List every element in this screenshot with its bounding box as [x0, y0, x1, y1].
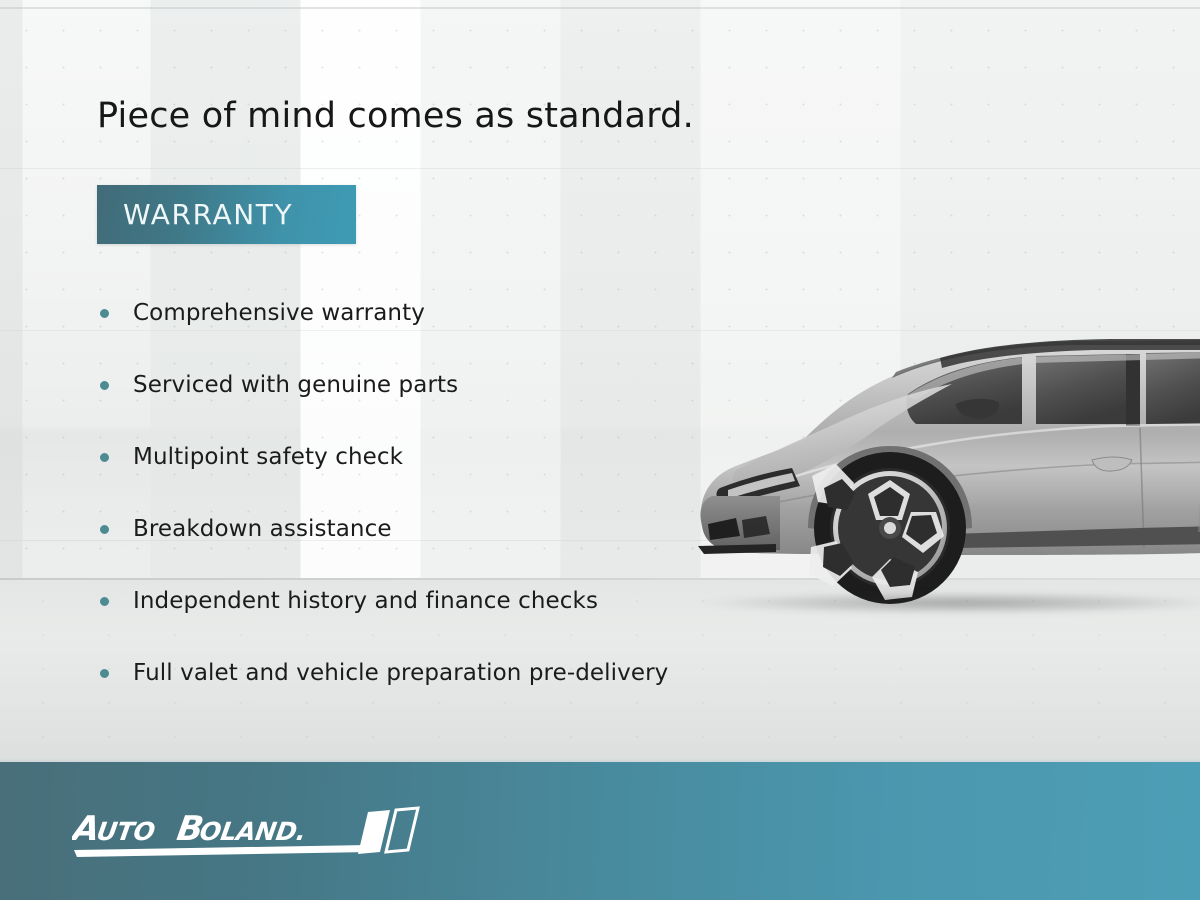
logo-bar-outline	[386, 808, 418, 852]
car-front-window	[1036, 354, 1126, 424]
list-item: Independent history and finance checks	[97, 565, 857, 637]
bullet-dot-icon	[100, 669, 109, 678]
list-item: Full valet and vehicle preparation pre-d…	[97, 637, 857, 709]
svg-text:UTO: UTO	[95, 817, 157, 846]
list-item: Serviced with genuine parts	[97, 349, 857, 421]
bullet-dot-icon	[100, 525, 109, 534]
feature-list: Comprehensive warranty Serviced with gen…	[97, 277, 857, 709]
list-item: Breakdown assistance	[97, 493, 857, 565]
list-item-label: Serviced with genuine parts	[133, 372, 458, 398]
svg-text:OLAND.: OLAND.	[198, 817, 308, 846]
list-item-label: Comprehensive warranty	[133, 300, 425, 326]
list-item-label: Breakdown assistance	[133, 516, 392, 542]
logo-underline	[74, 845, 371, 857]
car-b-pillar	[1126, 354, 1140, 426]
presentation-slide: Piece of mind comes as standard. WARRANT…	[0, 0, 1200, 900]
bullet-dot-icon	[100, 309, 109, 318]
car-rear-window	[1146, 352, 1200, 424]
logo-bar-solid	[358, 810, 390, 854]
list-item: Comprehensive warranty	[97, 277, 857, 349]
list-item-label: Full valet and vehicle preparation pre-d…	[133, 660, 668, 686]
bullet-dot-icon	[100, 453, 109, 462]
auto-boland-logo[interactable]: A UTO B OLAND.	[72, 800, 422, 860]
list-item-label: Multipoint safety check	[133, 444, 403, 470]
warranty-badge-label: WARRANTY	[97, 198, 293, 231]
bullet-dot-icon	[100, 597, 109, 606]
bullet-dot-icon	[100, 381, 109, 390]
list-item: Multipoint safety check	[97, 421, 857, 493]
list-item-label: Independent history and finance checks	[133, 588, 598, 614]
logo-wordmark: A UTO B OLAND.	[72, 809, 308, 849]
page-title: Piece of mind comes as standard.	[97, 96, 694, 136]
warranty-badge: WARRANTY	[97, 185, 356, 244]
